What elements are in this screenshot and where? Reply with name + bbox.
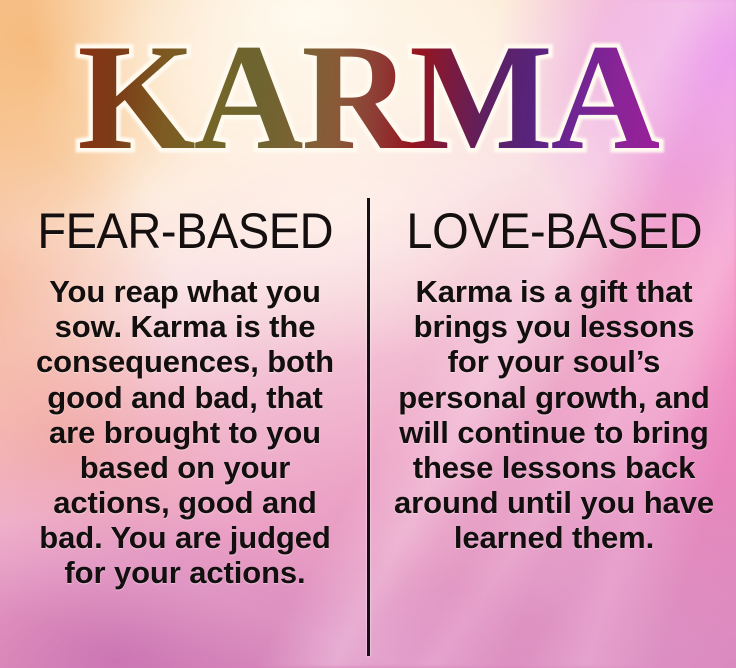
comparison-columns: FEAR-BASED You reap what you sow. Karma … xyxy=(0,196,736,658)
column-love-based: LOVE-BASED Karma is a gift that brings y… xyxy=(368,196,736,658)
karma-poster: KARMA KARMA FEAR-BASED You reap what you… xyxy=(0,0,736,668)
title-stack: KARMA KARMA xyxy=(77,21,658,173)
column-body-fear-based: You reap what you sow. Karma is the cons… xyxy=(24,274,346,591)
column-body-love-based: Karma is a gift that brings you lessons … xyxy=(393,274,715,555)
column-fear-based: FEAR-BASED You reap what you sow. Karma … xyxy=(0,196,368,658)
title-area: KARMA KARMA xyxy=(0,6,736,188)
column-heading-fear-based: FEAR-BASED xyxy=(37,206,333,256)
column-heading-love-based: LOVE-BASED xyxy=(406,206,702,256)
page-title: KARMA xyxy=(77,21,658,173)
